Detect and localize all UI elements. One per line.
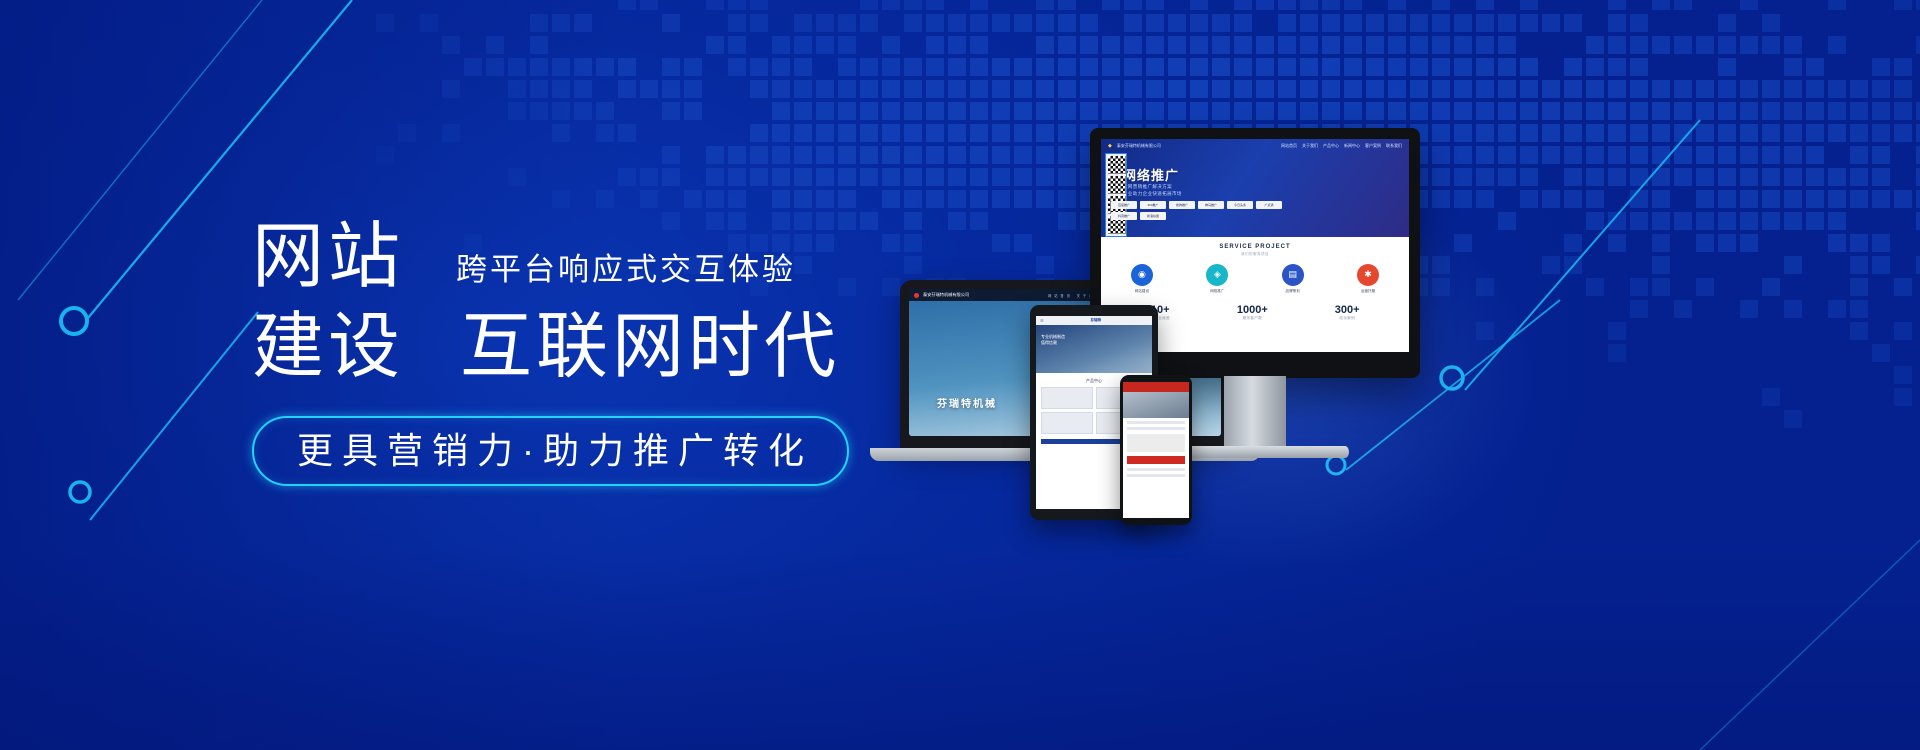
- laptop-hero-title: 芬瑞特机械: [937, 395, 997, 410]
- headline-subtitle: 跨平台响应式交互体验: [456, 250, 796, 300]
- gear-icon: ✱: [1357, 264, 1379, 286]
- phone-text-line: [1127, 474, 1185, 477]
- imac-site-logo-icon: ◆: [1108, 143, 1112, 149]
- phone-cta-bar: [1127, 456, 1185, 464]
- stat-number: 1000+: [1237, 304, 1268, 316]
- qr-code-icon: [1108, 156, 1126, 174]
- phone-text-line: [1127, 468, 1185, 471]
- product-cell: [1041, 387, 1093, 409]
- hero-banner: 网站 跨平台响应式交互体验 建设 互联网时代 更具营销力·助力推广转化 泰安芬瑞…: [0, 0, 1920, 750]
- service-label: 网站建设: [1110, 289, 1174, 294]
- imac-site-hero: ◆ 泰安芬瑞特机械有限公司 网站首页关于我们产品中心新闻中心客户案例联系我们 网…: [1101, 139, 1409, 237]
- tablet-site-topbar: ☰ 芬瑞特: [1036, 316, 1152, 325]
- tablet-hero-title: 专业机械制造值得信赖: [1041, 334, 1065, 346]
- service-item: ▤ 品牌策划: [1261, 264, 1325, 294]
- stat-label: 服务客户数: [1237, 316, 1268, 321]
- imac-service-section: SERVICE PROJECT 我们的服务项目 ◉ 网站建设 ◈ 网络推广: [1101, 237, 1409, 294]
- nav-item: 网站首页: [1281, 143, 1297, 149]
- imac-hero-title: 网络推广: [1123, 165, 1179, 184]
- logo-chip: 搜狗推广: [1169, 201, 1195, 209]
- service-item: ✱ 运营托管: [1336, 264, 1400, 294]
- service-label: 网络推广: [1185, 289, 1249, 294]
- headline-line-2: 建设 互联网时代: [252, 304, 872, 390]
- imac-site-nav: 网站首页关于我们产品中心新闻中心客户案例联系我们: [1281, 143, 1402, 149]
- headline-line-1: 网站 跨平台响应式交互体验: [252, 214, 872, 300]
- logo-chip: 新浪扶翼: [1140, 212, 1166, 220]
- headline-word-construction: 建设: [252, 304, 404, 390]
- imac-site-topbar: ◆ 泰安芬瑞特机械有限公司 网站首页关于我们产品中心新闻中心客户案例联系我们: [1101, 139, 1409, 153]
- phone-text-line: [1127, 427, 1185, 430]
- headline-copy-block: 网站 跨平台响应式交互体验 建设 互联网时代 更具营销力·助力推广转化: [252, 214, 872, 486]
- service-item: ◈ 网络推广: [1185, 264, 1249, 294]
- chart-icon: ▤: [1282, 264, 1304, 286]
- megaphone-icon: ◈: [1206, 264, 1228, 286]
- stat-item: 300+ 成功案例: [1335, 304, 1360, 321]
- tablet-hero: 专业机械制造值得信赖: [1036, 325, 1152, 373]
- phone-bezel: [1120, 375, 1192, 525]
- phone-site-header: [1123, 382, 1189, 392]
- nav-item: 客户案例: [1365, 143, 1381, 149]
- tagline-text: 更具营销力·助力推广转化: [288, 431, 813, 471]
- hamburger-icon: ☰: [1040, 318, 1044, 323]
- globe-icon: ◉: [1131, 264, 1153, 286]
- nav-item: 关于我们: [1302, 143, 1318, 149]
- phone-mockup: [1120, 375, 1192, 525]
- headline-word-internet-era: 互联网时代: [460, 304, 840, 390]
- logo-chip: 今日头条: [1227, 201, 1253, 209]
- qr-code-icon: [1108, 176, 1126, 194]
- phone-text-line: [1127, 421, 1185, 424]
- laptop-site-brand: 泰安芬瑞特机械有限公司: [923, 292, 969, 298]
- laptop-site-logo-icon: [914, 293, 919, 298]
- nav-item: 新闻中心: [1344, 143, 1360, 149]
- logo-chip: 360推广: [1140, 201, 1166, 209]
- imac-section-subtitle: 我们的服务项目: [1110, 252, 1400, 257]
- stat-item: 1000+ 服务客户数: [1237, 304, 1268, 321]
- headline-word-website: 网站: [252, 214, 404, 300]
- service-label: 运营托管: [1336, 289, 1400, 294]
- imac-section-title: SERVICE PROJECT: [1110, 244, 1400, 250]
- phone-content-block: [1127, 434, 1185, 452]
- phone-screen: [1123, 382, 1189, 518]
- logo-chip: 广点通: [1256, 201, 1282, 209]
- imac-site-brand: 泰安芬瑞特机械有限公司: [1117, 143, 1161, 149]
- stat-number: 300+: [1335, 304, 1360, 316]
- service-item: ◉ 网站建设: [1110, 264, 1174, 294]
- logo-chip: 百度推广: [1111, 201, 1137, 209]
- product-cell: [1041, 412, 1093, 434]
- service-label: 品牌策划: [1261, 289, 1325, 294]
- imac-qr-column: [1105, 153, 1127, 237]
- stat-label: 成功案例: [1335, 316, 1360, 321]
- logo-chip: 神马推广: [1198, 201, 1224, 209]
- nav-item: 产品中心: [1323, 143, 1339, 149]
- device-mockup-cluster: 泰安芬瑞特机械有限公司 网站首页 关于我们 产品中心 新闻中心 客户案例 联系我…: [880, 110, 1880, 630]
- imac-hero-subtitle: 全网营销推广解决方案专业助力企业快速拓展市场: [1123, 183, 1182, 197]
- tagline-pill: 更具营销力·助力推广转化: [252, 416, 849, 486]
- nav-item: 联系我们: [1386, 143, 1402, 149]
- logo-chip: 抖音推广: [1111, 212, 1137, 220]
- phone-hero-image: [1123, 392, 1189, 418]
- imac-service-row: ◉ 网站建设 ◈ 网络推广 ▤ 品牌策划: [1110, 264, 1400, 294]
- tablet-site-brand: 芬瑞特: [1091, 318, 1102, 323]
- imac-partner-logos: 百度推广 360推广 搜狗推广 神马推广 今日头条 广点通 抖音推广 新浪扶翼: [1111, 201, 1283, 220]
- imac-stand-neck: [1224, 376, 1286, 448]
